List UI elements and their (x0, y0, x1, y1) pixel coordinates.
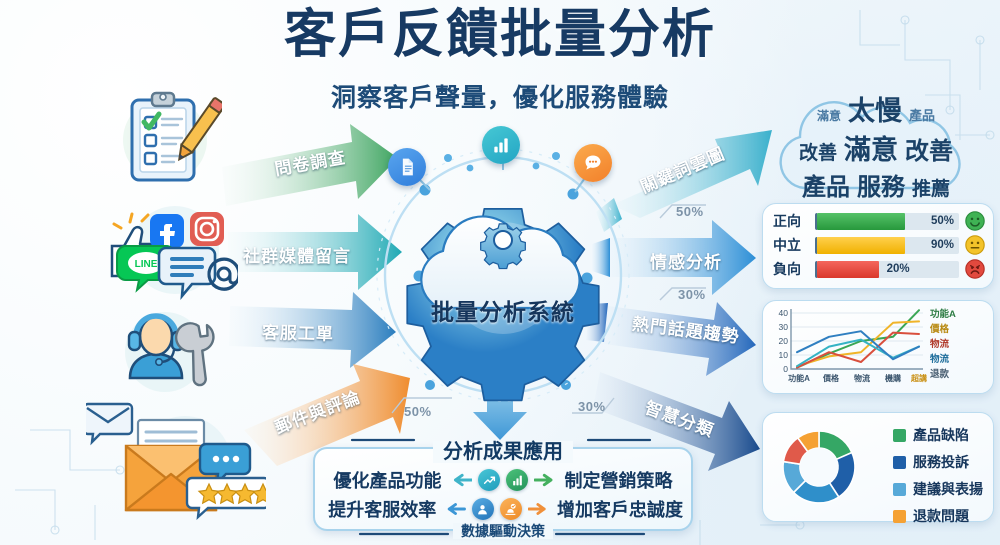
sentiment-bar-track: 20% (815, 261, 959, 278)
legend-item: 退款問題 (893, 506, 983, 526)
sentiment-bar-fill (817, 261, 879, 278)
bar-chart-icon (482, 126, 520, 164)
category-donut-chart (773, 421, 865, 513)
word-cloud-term: 滿意 (844, 128, 898, 167)
word-cloud-term: 產品 (802, 167, 850, 202)
legend-swatch (893, 456, 906, 469)
legend-label: 服務投訴 (913, 452, 969, 472)
svg-text:10: 10 (779, 350, 789, 360)
legend-item: 產品缺陷 (893, 425, 983, 445)
percent-mark-right-upper: 50% (676, 204, 704, 219)
sentiment-label: 負向 (773, 259, 809, 279)
legend-swatch (893, 483, 906, 496)
arrow-right-icon (534, 473, 558, 487)
word-cloud-term: 太慢 (848, 89, 902, 128)
percent-mark-right-lower: 30% (678, 287, 706, 302)
legend-label: 退款問題 (913, 506, 969, 526)
outcome-row-1: 優化產品功能 制定營銷策略 (323, 466, 683, 494)
word-cloud-term: 產品 (909, 105, 935, 124)
legend-item: 功能A (930, 306, 988, 320)
legend-label: 建議與表揚 (913, 479, 983, 499)
sentiment-panel: 正向 50% 中立 90% 負向 20% (762, 203, 994, 289)
word-cloud-words: 滿意 太慢 產品 改善 滿意 改善 產品 服務 推薦 (760, 96, 992, 194)
central-hub: 批量分析系統 (378, 140, 628, 410)
word-cloud-term: 改善 (799, 138, 837, 165)
sentiment-bar-fill (817, 213, 905, 230)
arrow-left-icon (442, 502, 465, 516)
legend-item: 價格 (930, 321, 988, 335)
svg-text:0: 0 (783, 364, 788, 374)
hub-label: 批量分析系統 (378, 293, 628, 327)
input-arrow-social (228, 214, 402, 290)
outcome-panel-footer: 數據驅動決策 (315, 521, 691, 541)
document-icon (388, 148, 426, 186)
email-review-icon (86, 398, 266, 535)
sentiment-label: 中立 (773, 235, 809, 255)
outcome-right-label: 制定營銷策略 (564, 467, 683, 493)
svg-text:20: 20 (779, 336, 789, 346)
output-label-sentiment: 情感分析 (650, 248, 722, 273)
legend-item: 建議與表揚 (893, 479, 983, 499)
trend-chart-legend: 功能A 價格 物流 物流 退款 (930, 306, 988, 380)
outcome-right-label: 增加客戶忠誠度 (557, 496, 683, 522)
input-label-social: 社群媒體留言 (243, 242, 351, 267)
person-icon (472, 498, 494, 520)
outcome-panel-footer-text: 數據驅動決策 (453, 523, 553, 539)
legend-swatch (893, 429, 906, 442)
input-label-ticket: 客服工單 (262, 318, 335, 345)
trend-line-chart: 4030 2010 0 功能A價格 物流機購 超講 (767, 305, 927, 389)
svg-text:30: 30 (779, 322, 789, 332)
outcome-row-2: 提升客服效率 增加客戶忠誠度 (323, 495, 683, 523)
input-arrow-ticket (229, 292, 396, 368)
svg-text:超講: 超講 (910, 373, 927, 383)
social-media-icon: LINE (104, 202, 238, 307)
sentiment-label: 正向 (773, 211, 809, 231)
svg-text:LINE: LINE (135, 259, 158, 270)
sentiment-value: 50% (931, 215, 954, 227)
word-cloud-term: 推薦 (912, 174, 950, 201)
word-cloud-panel: 滿意 太慢 產品 改善 滿意 改善 產品 服務 推薦 (760, 96, 992, 194)
svg-text:價格: 價格 (822, 373, 840, 383)
neutral-icon (965, 235, 985, 255)
input-arrow-survey (222, 124, 398, 206)
outcome-panel: 分析成果應用 優化產品功能 制定營銷策略 提升客服效率 (313, 447, 693, 531)
bar-chart-icon (506, 469, 528, 491)
hand-check-icon (500, 498, 522, 520)
legend-item: 退款 (930, 366, 988, 380)
clipboard-checklist-icon (118, 88, 222, 193)
outcome-panel-title-text: 分析成果應用 (433, 441, 573, 463)
input-label-survey: 問卷調查 (272, 143, 347, 180)
legend-label: 產品缺陷 (913, 425, 969, 445)
svg-text:功能A: 功能A (788, 373, 810, 383)
smile-icon (965, 211, 985, 231)
sentiment-value: 20% (887, 263, 910, 275)
sentiment-value: 90% (931, 239, 954, 251)
chat-bubble-icon (159, 248, 215, 296)
category-donut-legend: 產品缺陷 服務投訴 建議與表揚 退款問題 (893, 425, 983, 526)
support-agent-icon (112, 304, 222, 409)
category-donut-panel: 產品缺陷 服務投訴 建議與表揚 退款問題 (762, 412, 994, 522)
page-title: 客戶反饋批量分析 (0, 8, 1000, 63)
output-label-wordcloud: 關鍵詞雲圖 (636, 139, 729, 197)
sentiment-row-positive: 正向 50% (773, 211, 985, 231)
sentiment-row-neutral: 中立 90% (773, 235, 985, 255)
small-envelope-icon (86, 404, 132, 442)
input-label-email: 郵件與評論 (271, 383, 364, 439)
svg-text:物流: 物流 (854, 373, 870, 383)
chat-call-icon (574, 144, 612, 182)
sentiment-row-negative: 負向 20% (773, 259, 985, 279)
trend-chart-icon (478, 469, 500, 491)
word-cloud-term: 改善 (905, 131, 953, 166)
star-rating-icon (187, 478, 266, 517)
legend-swatch (893, 510, 906, 523)
legend-item: 物流 (930, 351, 988, 365)
sentiment-bar-fill (817, 237, 905, 254)
legend-item: 物流 (930, 336, 988, 350)
trend-chart-panel: 4030 2010 0 功能A價格 物流機購 超講 功能A 價格 物流 (762, 300, 994, 394)
outcome-left-label: 提升客服效率 (323, 496, 436, 522)
output-label-trend: 熱門話題趨勢 (631, 310, 741, 348)
sentiment-bar-track: 50% (815, 213, 959, 230)
arrow-left-icon (448, 473, 472, 487)
arrow-right-icon (528, 502, 551, 516)
sentiment-bar-track: 90% (815, 237, 959, 254)
svg-text:40: 40 (779, 308, 789, 318)
frown-icon (965, 259, 985, 279)
outcome-panel-title: 分析成果應用 (315, 435, 691, 464)
outcome-left-label: 優化產品功能 (323, 467, 442, 493)
infographic-canvas: 客戶反饋批量分析 洞察客戶聲量，優化服務體驗 (0, 0, 1000, 545)
word-cloud-term: 滿意 (817, 107, 841, 124)
legend-item: 服務投訴 (893, 452, 983, 472)
word-cloud-term: 服務 (857, 167, 905, 202)
svg-text:機購: 機購 (885, 373, 901, 383)
